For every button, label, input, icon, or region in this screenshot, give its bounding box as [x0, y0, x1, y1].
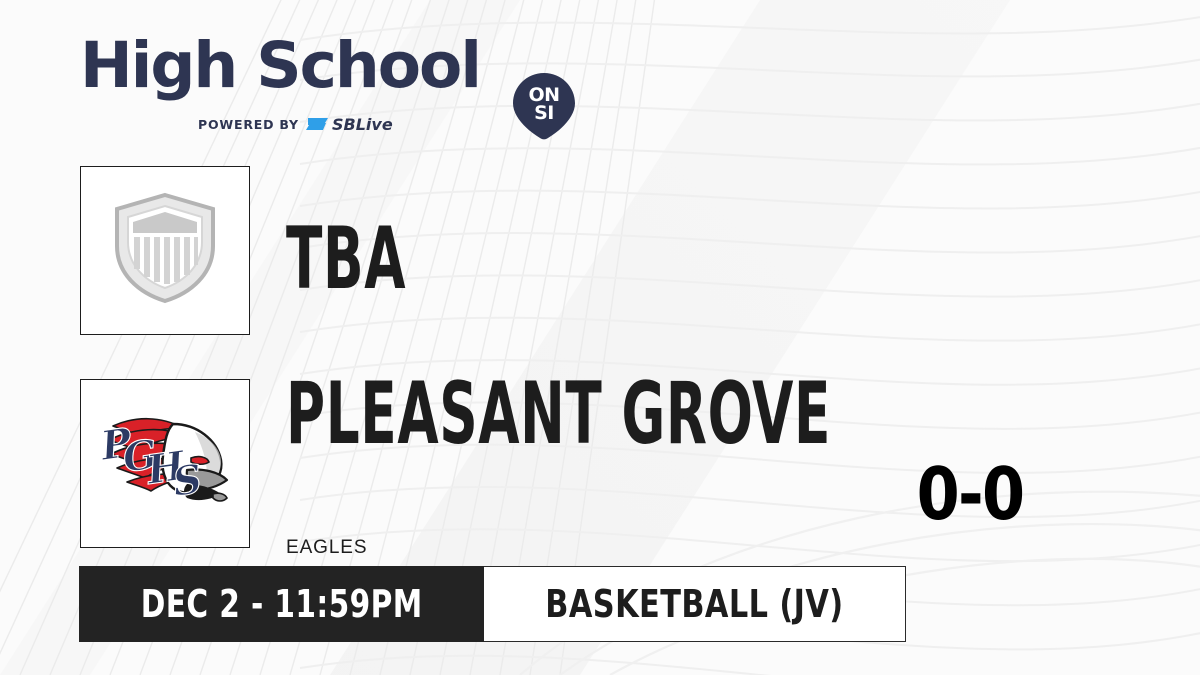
team-name-1: TBA: [286, 216, 406, 302]
game-datetime-badge: DEC 2 - 11:59PM: [79, 566, 484, 642]
pin-label-si: SI: [534, 102, 554, 124]
page-title: High School: [80, 34, 480, 97]
powered-by-label: POWERED BY: [198, 117, 299, 132]
game-sport-badge: BASKETBALL (JV): [484, 566, 906, 642]
team-mascot-2: EAGLES: [286, 537, 367, 559]
sblive-wordmark: SBLive: [332, 115, 393, 134]
site-logo-header: High School ON SI POWERED BY SBLive: [80, 34, 510, 134]
team-logo-box-1: [80, 166, 250, 335]
scoreboard-graphic: High School ON SI POWERED BY SBLive: [0, 0, 1200, 675]
game-info-banner: DEC 2 - 11:59PM BASKETBALL (JV): [79, 566, 906, 642]
sblive-logo: SBLive: [306, 114, 414, 134]
powered-by-sblive: POWERED BY SBLive: [198, 114, 414, 134]
game-datetime-label: DEC 2 - 11:59PM: [141, 585, 423, 623]
on-si-pin-icon: ON SI: [512, 72, 576, 140]
eagle-head-mascot-icon: P G H S: [95, 402, 235, 525]
game-sport-label: BASKETBALL (JV): [546, 585, 844, 623]
shield-placeholder-icon: [113, 192, 217, 309]
team-logo-box-2: P G H S: [80, 379, 250, 548]
score-display: 0-0: [914, 455, 1026, 533]
team-name-2: PLEASANT GROVE: [286, 371, 831, 457]
